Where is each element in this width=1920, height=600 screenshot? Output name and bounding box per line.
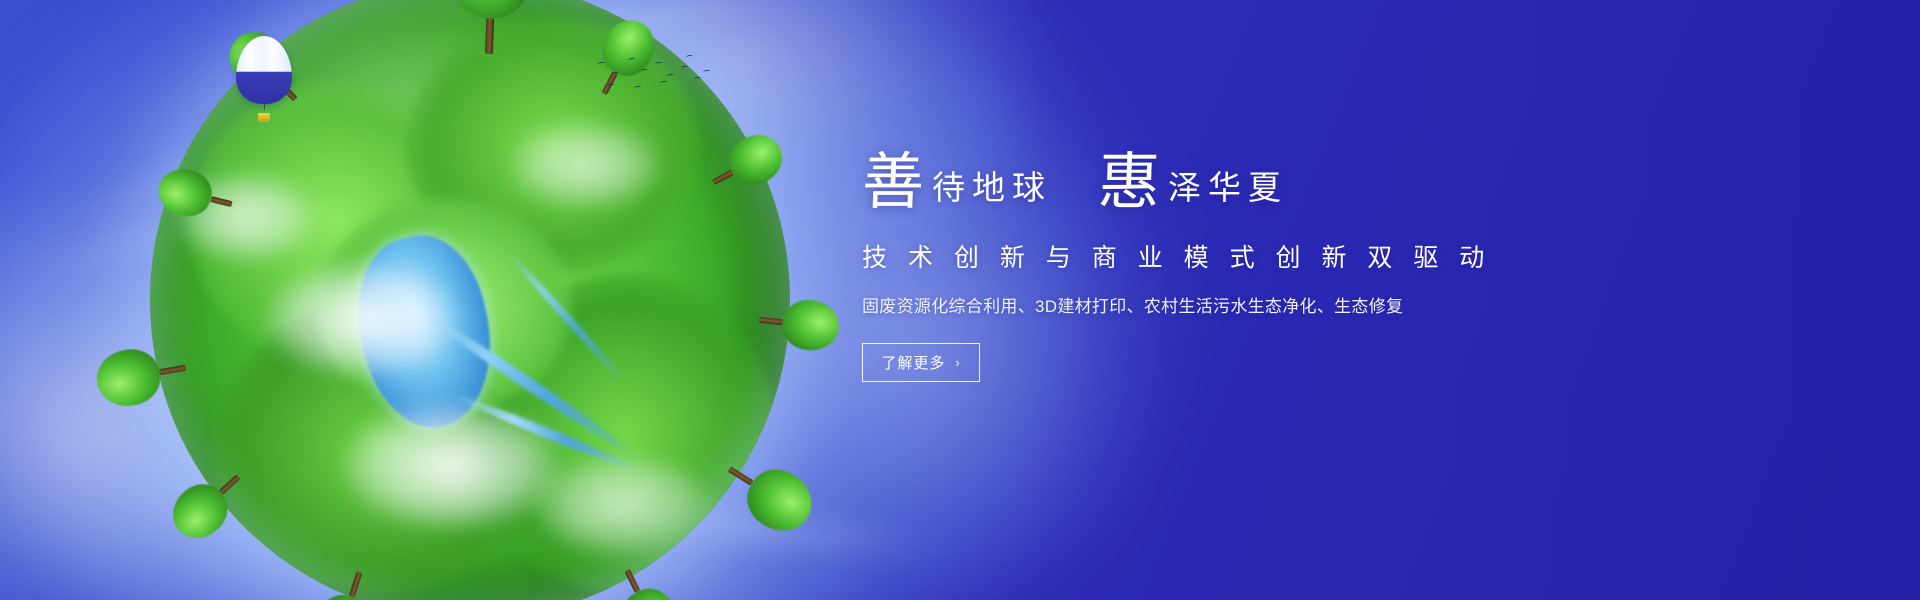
hot-air-balloon-icon: [236, 36, 292, 130]
tree-icon: [450, 0, 532, 53]
cloud-patch: [534, 454, 713, 556]
cloud-patch: [508, 121, 662, 211]
banner-copy: 善 待地球 惠 泽华夏 技 术 创 新 与 商 业 模 式 创 新 双 驱 动 …: [862, 132, 1462, 382]
banner-headline: 善 待地球 惠 泽华夏: [862, 132, 1462, 214]
cloud-patch: [265, 262, 457, 377]
headline-rest-2: 泽华夏: [1160, 171, 1288, 214]
chevron-right-icon: ›: [955, 356, 960, 369]
headline-accent-char-1: 善: [861, 153, 925, 214]
cloud-patch: [342, 402, 560, 530]
headline-group-1: 善 待地球: [862, 153, 1052, 214]
learn-more-label: 了解更多: [881, 352, 945, 373]
banner-subtitle: 技 术 创 新 与 商 业 模 式 创 新 双 驱 动: [862, 238, 1462, 274]
right-vignette: [1400, 0, 1920, 600]
headline-accent-char-2: 惠: [1097, 153, 1161, 214]
hero-banner: 善 待地球 惠 泽华夏 技 术 创 新 与 商 业 模 式 创 新 双 驱 动 …: [0, 0, 1920, 600]
headline-rest-1: 待地球: [924, 171, 1052, 214]
tree-icon: [758, 295, 841, 353]
banner-description: 固废资源化综合利用、3D建材打印、农村生活污水生态净化、生态修复: [862, 292, 1462, 317]
learn-more-button[interactable]: 了解更多 ›: [862, 343, 980, 382]
headline-group-2: 惠 泽华夏: [1098, 153, 1288, 214]
